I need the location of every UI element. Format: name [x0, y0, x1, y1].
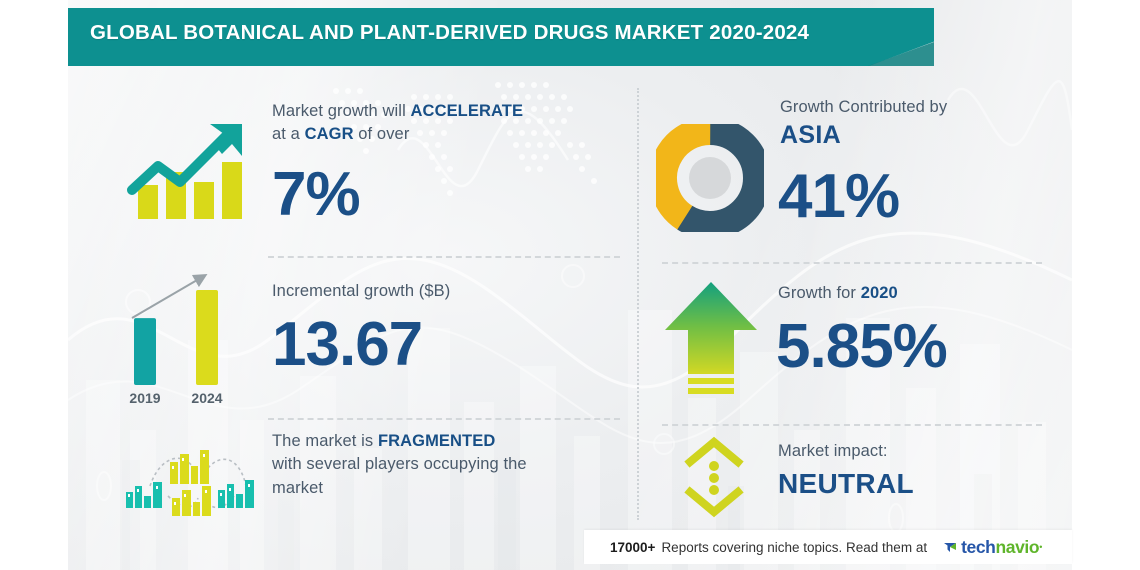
fragmentation-label: The market is FRAGMENTED with several pl…	[272, 430, 622, 500]
yoy-growth-label: Growth for 2020	[778, 282, 898, 305]
fragmentation-line1-strong: FRAGMENTED	[378, 432, 495, 450]
fragmentation-line1-prefix: The market is	[272, 432, 378, 450]
cagr-line1-strong: ACCELERATE	[411, 102, 524, 120]
cagr-value: 7%	[272, 164, 360, 226]
page-title: GLOBAL BOTANICAL AND PLANT-DERIVED DRUGS…	[90, 8, 809, 58]
bar-label-2019: 2019	[129, 390, 160, 406]
market-impact-cell: Market impact: NEUTRAL	[640, 426, 1072, 526]
cagr-line2-suffix: of over	[354, 125, 410, 143]
region-growth-value: 41%	[778, 166, 899, 228]
yoy-growth-value: 5.85%	[776, 316, 947, 378]
fragmented-market-icon	[112, 436, 264, 518]
footer-text: Reports covering niche topics. Read them…	[661, 540, 927, 555]
incremental-growth-cell: 2019 2024 Incremental growth ($B) 13.67	[0, 258, 640, 416]
infographic-page: GLOBAL BOTANICAL AND PLANT-DERIVED DRUGS…	[0, 0, 1140, 570]
market-impact-label: Market impact:	[778, 440, 888, 463]
cagr-label-line2: at a CAGR of over	[272, 123, 612, 146]
fragmentation-line1: The market is FRAGMENTED	[272, 430, 622, 453]
cagr-cell: Market growth will ACCELERATE at a CAGR …	[0, 88, 640, 253]
cagr-label-line1: Market growth will ACCELERATE	[272, 100, 612, 123]
yoy-growth-prefix: Growth for	[778, 284, 861, 302]
yoy-growth-cell: Growth for 2020 5.85%	[640, 264, 1072, 422]
cagr-line2-strong: CAGR	[305, 125, 354, 143]
incremental-growth-label: Incremental growth ($B)	[272, 280, 450, 303]
yoy-growth-year: 2020	[861, 284, 898, 302]
header-banner: GLOBAL BOTANICAL AND PLANT-DERIVED DRUGS…	[68, 8, 934, 66]
bar-chart-growth-icon: 2019 2024	[108, 262, 253, 412]
cagr-line1-prefix: Market growth will	[272, 102, 411, 120]
cagr-label: Market growth will ACCELERATE at a CAGR …	[272, 100, 612, 147]
fragmentation-cell: The market is FRAGMENTED with several pl…	[0, 420, 640, 528]
logo-registered-dot: •	[1039, 542, 1042, 552]
bar-label-2024: 2024	[191, 390, 222, 406]
cagr-line2-prefix: at a	[272, 125, 305, 143]
right-margin	[1072, 0, 1140, 570]
logo-text-tech: tech	[961, 537, 995, 558]
fragmentation-line3: market	[272, 477, 622, 500]
up-arrow-icon	[662, 278, 760, 396]
region-name: ASIA	[780, 121, 1060, 150]
technavio-mark-icon	[943, 539, 959, 555]
logo-text-navio: navio	[995, 537, 1039, 558]
footer-report-count: 17000+	[610, 540, 655, 555]
neutral-impact-icon	[678, 436, 750, 518]
region-growth-cell: Growth Contributed by ASIA 41%	[640, 88, 1072, 260]
footer-bar: 17000+ Reports covering niche topics. Re…	[584, 530, 1072, 564]
technavio-logo[interactable]: technavio•	[943, 537, 1042, 558]
market-impact-value: NEUTRAL	[778, 468, 914, 500]
region-growth-caption: Growth Contributed by	[780, 96, 1060, 119]
fragmentation-line2: with several players occupying the	[272, 453, 622, 476]
incremental-growth-value: 13.67	[272, 314, 422, 376]
region-growth-label: Growth Contributed by ASIA	[780, 96, 1060, 150]
donut-chart-icon	[656, 124, 764, 232]
growth-arrow-chart-icon	[118, 110, 258, 225]
